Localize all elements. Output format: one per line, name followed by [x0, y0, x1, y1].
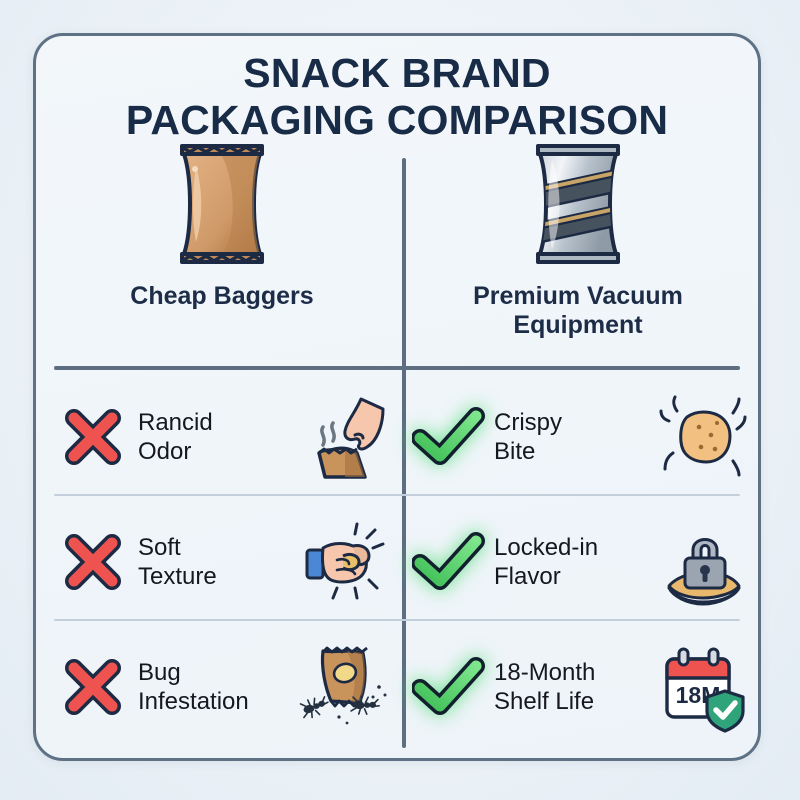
row-2-left-label-line1: Soft	[138, 533, 296, 562]
padlock-over-snack-icon	[652, 516, 750, 608]
green-check-icon	[406, 654, 492, 720]
row-1-left-label-line1: Rancid	[138, 408, 296, 437]
row-3-left: Bug Infestation	[50, 627, 394, 747]
row-3-right-label-line1: 18-Month	[494, 658, 652, 687]
row-1-left-label-line2: Odor	[138, 437, 296, 466]
row-1-left: Rancid Odor	[50, 377, 394, 497]
row-3-left-label: Bug Infestation	[136, 658, 296, 717]
red-x-icon	[50, 529, 136, 595]
row-3-left-label-line1: Bug	[138, 658, 296, 687]
row-1-left-label: Rancid Odor	[136, 408, 296, 467]
row-1-right: Crispy Bite	[406, 377, 750, 497]
title-line-1: SNACK BRAND	[243, 50, 550, 96]
hand-squeezing-chip-icon	[296, 516, 394, 608]
row-3-right-label-line2: Shelf Life	[494, 687, 652, 716]
infographic-canvas: SNACK BRAND PACKAGING COMPARISON	[0, 0, 800, 800]
brown-snack-bag-icon	[50, 136, 394, 272]
row-2-right: Locked-in Flavor	[406, 502, 750, 622]
torn-bag-with-ants-icon	[296, 639, 394, 735]
silver-vacuum-bag-icon	[406, 136, 750, 272]
green-check-icon	[406, 404, 492, 470]
column-header-label-left: Cheap Baggers	[50, 282, 394, 311]
column-header-label-right-line1: Premium Vacuum	[473, 282, 683, 310]
nose-smelling-bag-icon	[296, 391, 394, 483]
row-1-right-label-line2: Bite	[494, 437, 652, 466]
row-2-right-label-line2: Flavor	[494, 562, 652, 591]
red-x-icon	[50, 404, 136, 470]
column-header-label-right-line2: Equipment	[513, 311, 642, 339]
row-2-left: Soft Texture	[50, 502, 394, 622]
row-1-right-label: Crispy Bite	[492, 408, 652, 467]
green-check-icon	[406, 529, 492, 595]
column-header-label-right: Premium Vacuum Equipment	[406, 282, 750, 340]
row-3-right-label: 18-Month Shelf Life	[492, 658, 652, 717]
row-2-left-label-line2: Texture	[138, 562, 296, 591]
row-3-right: 18-Month Shelf Life 18M	[406, 627, 750, 747]
comparison-card: SNACK BRAND PACKAGING COMPARISON	[33, 33, 761, 761]
header-divider	[54, 366, 740, 370]
row-1-right-label-line1: Crispy	[494, 408, 652, 437]
column-header-premium: Premium Vacuum Equipment	[406, 136, 750, 340]
crunchy-chip-icon	[652, 391, 750, 483]
row-2-right-label: Locked-in Flavor	[492, 533, 652, 592]
row-2-left-label: Soft Texture	[136, 533, 296, 592]
row-3-left-label-line2: Infestation	[138, 687, 296, 716]
row-2-right-label-line1: Locked-in	[494, 533, 652, 562]
red-x-icon	[50, 654, 136, 720]
page-title: SNACK BRAND PACKAGING COMPARISON	[36, 50, 758, 143]
column-header-cheap: Cheap Baggers	[50, 136, 394, 311]
calendar-shield-icon: 18M	[652, 641, 750, 733]
